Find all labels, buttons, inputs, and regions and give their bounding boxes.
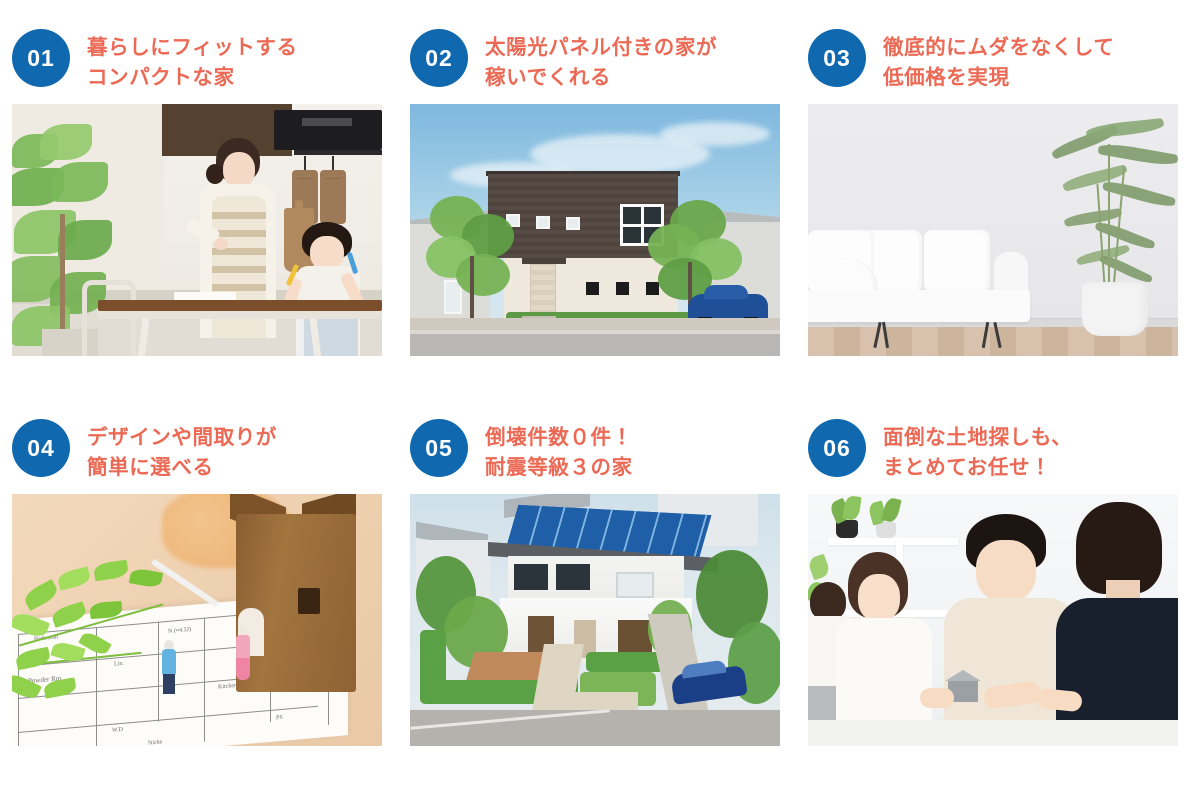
feature-number-badge-05: 05 [410,419,468,477]
desk-shape [808,720,1178,746]
feature-card-05[interactable]: 05 倒壊件数０件！ 耐震等級３の家 [398,390,796,780]
plan-label: Niche [148,739,162,746]
feature-heading-06: 面倒な土地探しも、 まとめてお任せ！ [883,422,1072,482]
hood-panel-shape [302,118,352,126]
plan-label: W.D [112,727,123,734]
plan-label: PS [276,715,283,722]
plant-pot-shape [1082,282,1148,336]
feature-header-06: 06 面倒な土地探しも、 まとめてお任せ！ [796,390,1186,476]
feature-card-04[interactable]: 04 デザインや間取りが 簡単に選べる Bathroom N (≈4.5J) L… [0,390,398,780]
tree-shape [426,196,518,320]
agent-figure [1066,502,1178,746]
plant-pot-shape [876,522,896,538]
feature-header-01: 01 暮らしにフィットする コンパクトな家 [0,0,398,86]
front-door-shape [530,264,556,318]
feature-header-03: 03 徹底的にムダをなくして 低価格を実現 [796,0,1186,86]
feature-card-02[interactable]: 02 太陽光パネル付きの家が 稼いでくれる [398,0,796,390]
palm-plant-shape [1046,114,1176,326]
feature-number-badge-03: 03 [808,29,866,87]
feature-number-badge-04: 04 [12,419,70,477]
paper-shape [174,292,236,300]
hand-shape [920,688,954,708]
window-shape [514,564,548,590]
window-shape [586,282,599,295]
leaf-shape [808,554,831,581]
range-hood-shape [274,110,382,150]
solar-panel-house-photo [410,494,780,746]
feature-header-04: 04 デザインや間取りが 簡単に選べる [0,390,398,476]
feature-number-badge-01: 01 [12,29,70,87]
hedge-shape [586,652,664,672]
white-living-room-photo [808,104,1178,356]
dining-table-shape [98,300,382,311]
leaf-shape [842,495,861,521]
road-shape [410,334,780,356]
leaf-shape [881,497,901,524]
hook-shape [332,156,334,170]
hook-shape [304,156,306,170]
cloud-shape [660,122,770,146]
child-figure [288,222,370,356]
mother-figure [836,552,932,746]
window-shape [566,217,580,230]
blue-car-shape [670,665,747,705]
feature-heading-03: 徹底的にムダをなくして 低価格を実現 [883,32,1114,92]
oven-mitt-shape [320,170,346,224]
window-shape [616,572,654,598]
modern-house-exterior-photo [410,104,780,356]
feature-header-02: 02 太陽光パネル付きの家が 稼いでくれる [398,0,796,86]
feature-number-badge-06: 06 [808,419,866,477]
feature-heading-04: デザインや間取りが 簡単に選べる [87,422,277,482]
window-shape [536,216,550,229]
kitchen-mother-child-photo [12,104,382,356]
feature-heading-01: 暮らしにフィットする コンパクトな家 [87,32,298,92]
hood-bar-shape [294,150,382,155]
white-sofa-shape [808,230,1030,324]
feature-heading-05: 倒壊件数０件！ 耐震等級３の家 [485,422,633,482]
features-grid: 01 暮らしにフィットする コンパクトな家 [0,0,1186,791]
family-consultation-photo [808,494,1178,746]
window-shape [556,564,590,590]
feature-header-05: 05 倒壊件数０件！ 耐震等級３の家 [398,390,796,476]
feature-heading-02: 太陽光パネル付きの家が 稼いでくれる [485,32,717,92]
feature-card-06[interactable]: 06 面倒な土地探しも、 まとめてお任せ！ [796,390,1186,780]
table-apron-shape [98,311,382,319]
feature-card-03[interactable]: 03 徹底的にムダをなくして 低価格を実現 [796,0,1186,390]
window-shape [616,282,629,295]
shelf-shape [828,538,958,545]
feature-card-01[interactable]: 01 暮らしにフィットする コンパクトな家 [0,0,398,390]
floorplan-model-house-photo: Bathroom N (≈4.5J) Lin. Powder Rm W.D Ki… [12,494,382,746]
road-shape [410,710,780,746]
feature-number-badge-02: 02 [410,29,468,87]
